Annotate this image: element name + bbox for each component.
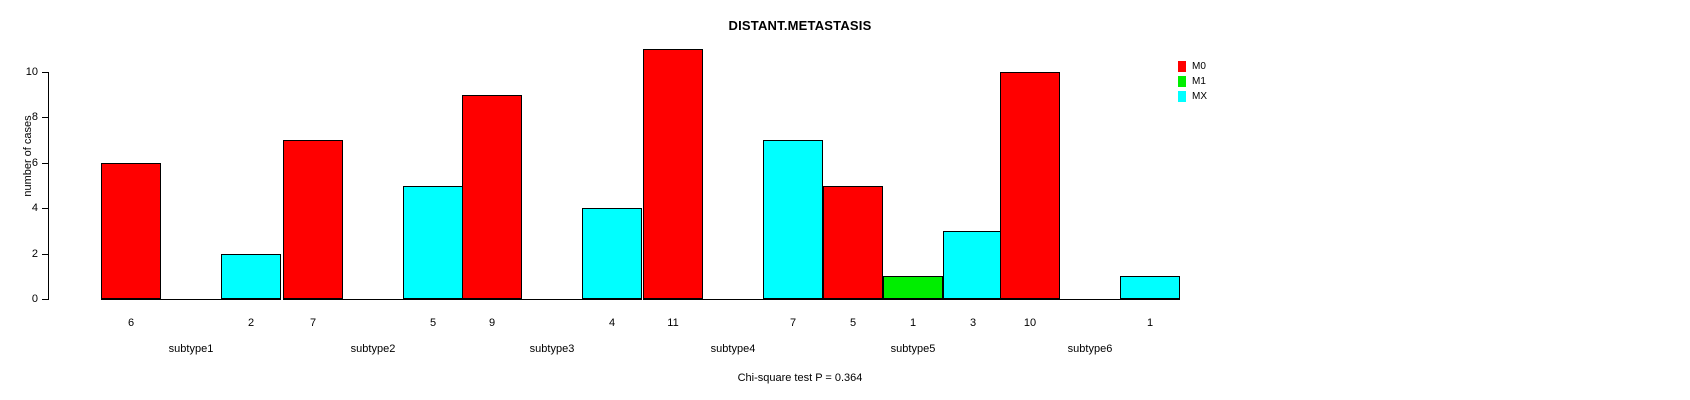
bar-value-label: 1 (883, 318, 943, 329)
group-label-subtype5: subtype5 (823, 344, 1003, 355)
bar-value-label: 7 (283, 318, 343, 329)
y-tick-mark (42, 299, 49, 300)
group-baseline (823, 299, 1003, 300)
group-label-subtype3: subtype3 (462, 344, 642, 355)
group-baseline (101, 299, 281, 300)
y-tick-mark (42, 72, 49, 73)
legend-swatch-m0 (1178, 61, 1186, 72)
bar-value-label: 10 (1000, 318, 1060, 329)
bar-value-label: 5 (823, 318, 883, 329)
bar-value-label: 7 (763, 318, 823, 329)
bar-subtype3-mx (582, 208, 642, 299)
bar-subtype6-m0 (1000, 72, 1060, 299)
chi-square-caption: Chi-square test P = 0.364 (0, 372, 1600, 384)
page-title: DISTANT.METASTASIS (0, 18, 1600, 33)
bar-value-label: 5 (403, 318, 463, 329)
y-tick-mark (42, 208, 49, 209)
legend-label-m0: M0 (1192, 61, 1206, 72)
group-baseline (1000, 299, 1180, 300)
bar-subtype4-m0 (643, 49, 703, 299)
bar-subtype2-m0 (283, 140, 343, 299)
bar-subtype1-m0 (101, 163, 161, 299)
legend-item: MX (1178, 90, 1298, 105)
bar-value-label: 6 (101, 318, 161, 329)
bar-value-label: 1 (1120, 318, 1180, 329)
legend-label-mx: MX (1192, 91, 1207, 102)
bar-value-label: 11 (643, 318, 703, 329)
group-label-subtype1: subtype1 (101, 344, 281, 355)
group-label-subtype4: subtype4 (643, 344, 823, 355)
bar-subtype6-mx (1120, 276, 1180, 299)
group-label-subtype2: subtype2 (283, 344, 463, 355)
y-tick-label: 2 (18, 249, 38, 260)
bar-subtype5-m1 (883, 276, 943, 299)
y-tick-label: 0 (18, 294, 38, 305)
legend-item: M0 (1178, 60, 1298, 75)
bar-subtype3-m0 (462, 95, 522, 299)
group-baseline (643, 299, 823, 300)
bar-value-label: 4 (582, 318, 642, 329)
bar-value-label: 2 (221, 318, 281, 329)
legend-item: M1 (1178, 75, 1298, 90)
chart-canvas: DISTANT.METASTASIS 0246810 number of cas… (0, 0, 1690, 400)
bar-subtype4-mx (763, 140, 823, 299)
y-axis-title: number of cases (22, 76, 34, 236)
legend-swatch-mx (1178, 91, 1186, 102)
bar-subtype2-mx (403, 186, 463, 300)
bar-value-label: 9 (462, 318, 522, 329)
legend-label-m1: M1 (1192, 76, 1206, 87)
group-baseline (283, 299, 463, 300)
legend-swatch-m1 (1178, 76, 1186, 87)
bar-subtype5-m0 (823, 186, 883, 300)
y-tick-mark (42, 163, 49, 164)
group-baseline (462, 299, 642, 300)
bar-subtype1-mx (221, 254, 281, 299)
y-tick-mark (42, 117, 49, 118)
group-label-subtype6: subtype6 (1000, 344, 1180, 355)
bar-value-label: 3 (943, 318, 1003, 329)
legend: M0 M1 MX (1178, 60, 1298, 105)
bar-subtype5-mx (943, 231, 1003, 299)
y-axis-line (48, 72, 49, 299)
y-tick-mark (42, 254, 49, 255)
